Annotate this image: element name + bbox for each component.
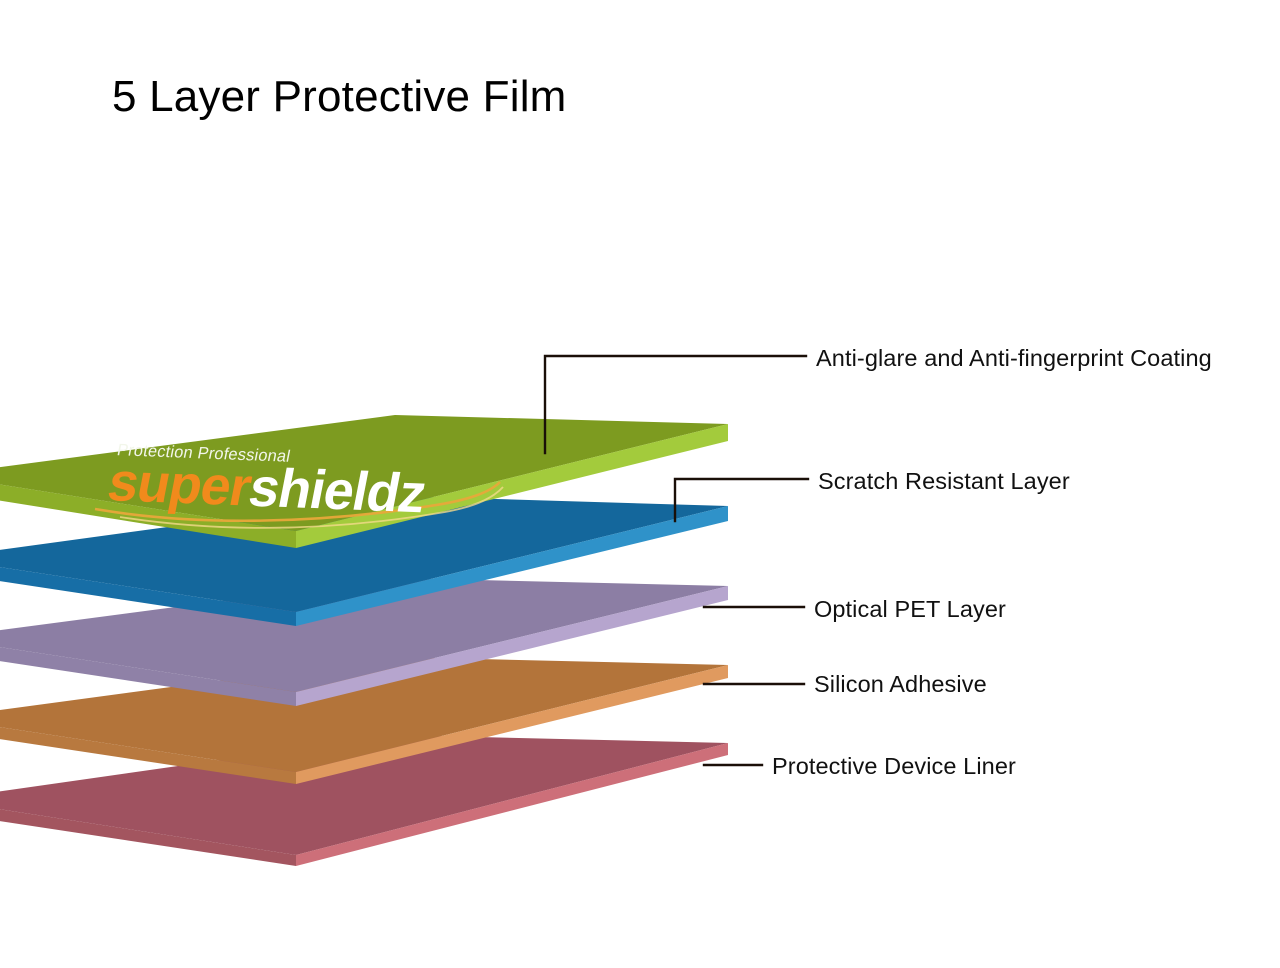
layer-label-scratch-resistant: Scratch Resistant Layer [818,468,1070,495]
layer-label-antiglare-coating: Anti-glare and Anti-fingerprint Coating [816,345,1212,372]
layer-label-optical-pet: Optical PET Layer [814,596,1006,623]
diagram-canvas: 5 Layer Protective Film [0,0,1280,968]
layer-stack-illustration [0,0,1280,968]
layer-label-device-liner: Protective Device Liner [772,753,1016,780]
layer-label-silicon-adhesive: Silicon Adhesive [814,671,987,698]
